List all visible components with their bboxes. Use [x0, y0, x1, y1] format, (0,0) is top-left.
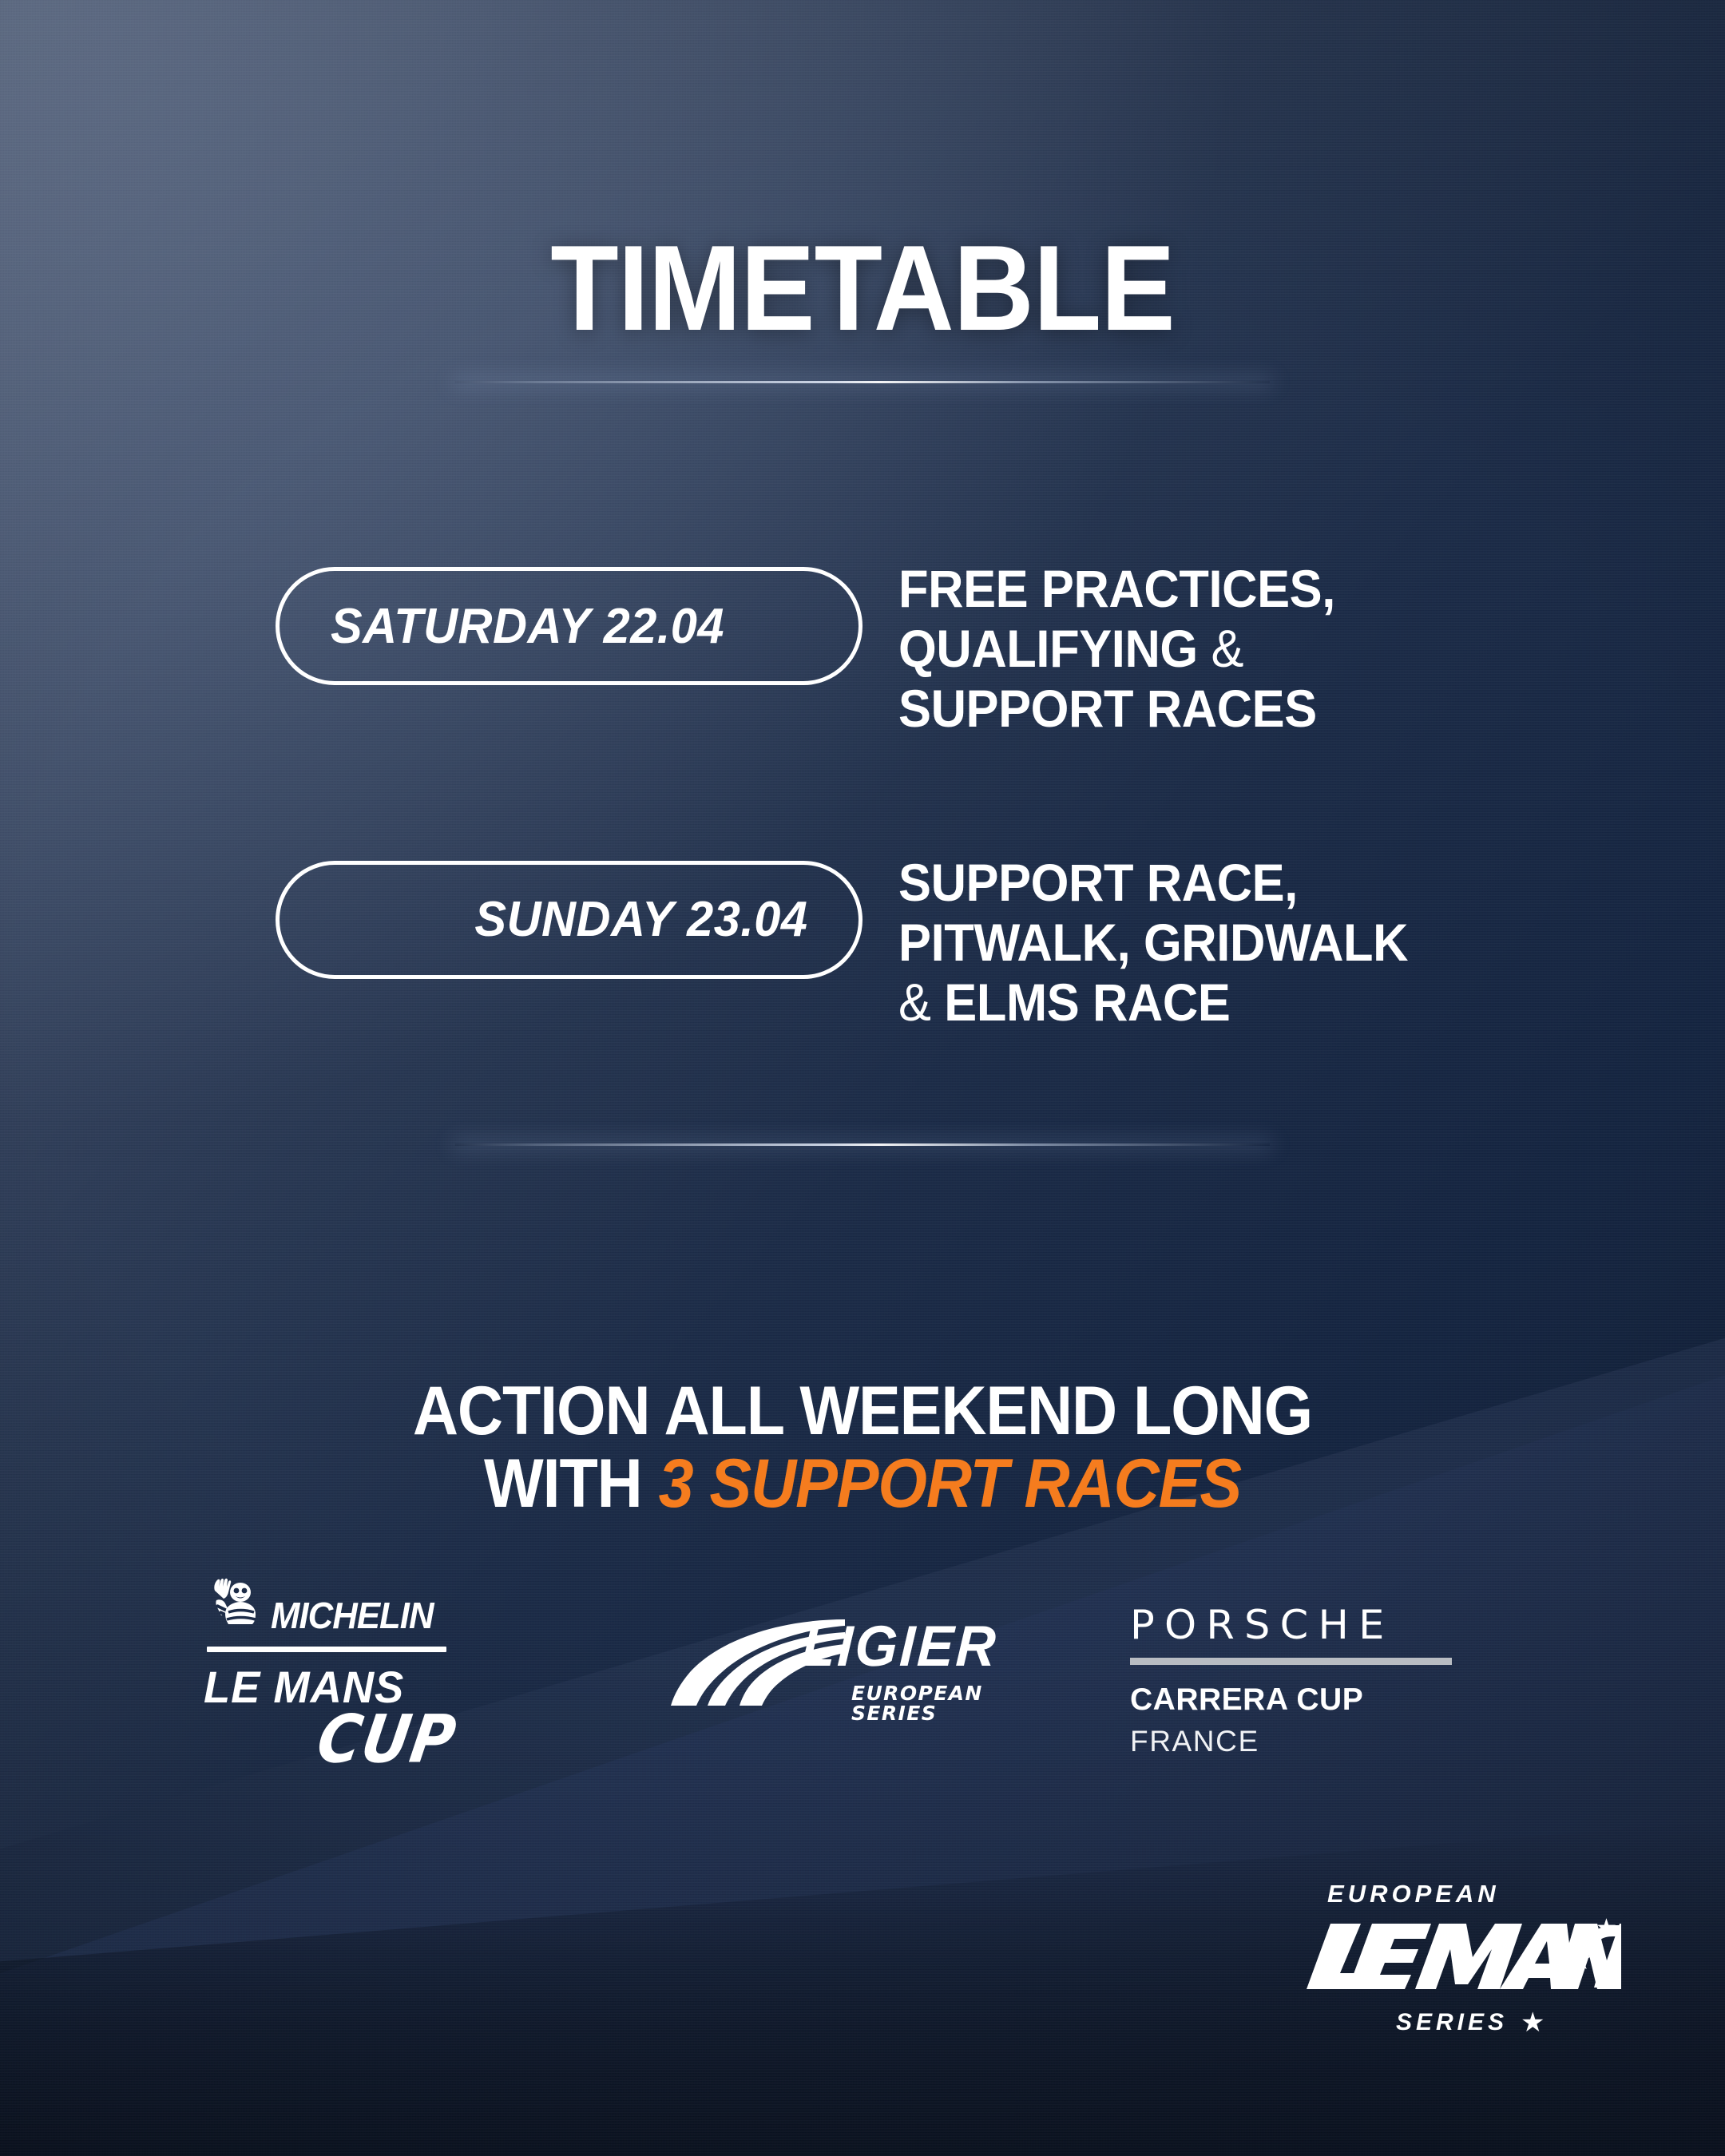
- events-line-1: SUPPORT RACE,: [898, 853, 1408, 913]
- porsche-country-label: FRANCE: [1130, 1725, 1465, 1759]
- date-pill-label: SUNDAY 23.04: [474, 891, 807, 948]
- tagline-prefix: WITH: [484, 1445, 659, 1522]
- svg-text:★: ★: [1596, 1914, 1617, 1942]
- events-line-3-text: ELMS RACE: [931, 973, 1231, 1032]
- ampersand: &: [898, 973, 931, 1032]
- events-description-sunday: SUPPORT RACE, PITWALK, GRIDWALK & ELMS R…: [898, 853, 1408, 1033]
- svg-text:★: ★: [1567, 1944, 1592, 1976]
- events-line-2: PITWALK, GRIDWALK: [898, 913, 1408, 973]
- sponsor-porsche-carrera-cup-france: PORSCHE CARRERA CUP FRANCE: [1130, 1605, 1465, 1758]
- events-line-3: SUPPORT RACES: [898, 679, 1335, 739]
- date-pill-label: SATURDAY 22.04: [331, 598, 724, 655]
- page-title: TIMETABLE: [69, 228, 1656, 349]
- schedule-row-sunday: SUNDAY 23.04 SUPPORT RACE, PITWALK, GRID…: [276, 853, 1489, 1033]
- european-le-mans-series-logo: EUROPEAN: [1278, 1881, 1621, 2036]
- elms-series-row: SERIES ★: [1396, 2009, 1621, 2036]
- elms-series-label: SERIES: [1396, 2011, 1508, 2035]
- porsche-wordmark: PORSCHE: [1130, 1605, 1472, 1645]
- date-pill-sunday[interactable]: SUNDAY 23.04: [276, 861, 862, 979]
- timetable-poster: TIMETABLE SATURDAY 22.04 FREE PRACTICES,…: [0, 0, 1725, 2156]
- events-line-2-text: QUALIFYING: [898, 619, 1211, 678]
- poster-content: TIMETABLE SATURDAY 22.04 FREE PRACTICES,…: [0, 0, 1725, 2156]
- ligier-wordmark: LIGIER: [800, 1618, 999, 1675]
- events-line-3: & ELMS RACE: [898, 973, 1408, 1032]
- date-pill-saturday[interactable]: SATURDAY 22.04: [276, 567, 862, 685]
- tagline-line-2: WITH 3 SUPPORT RACES: [69, 1448, 1656, 1520]
- ligier-subtitle: EUROPEAN SERIES: [851, 1683, 1038, 1723]
- divider-top: [455, 381, 1270, 383]
- porsche-carrera-cup-label: CARRERA CUP: [1130, 1682, 1465, 1718]
- elms-stars-icon: ★ ★: [1549, 1902, 1621, 1990]
- schedule-row-saturday: SATURDAY 22.04 FREE PRACTICES, QUALIFYIN…: [276, 559, 1489, 739]
- tagline-line-1: ACTION ALL WEEKEND LONG: [69, 1375, 1656, 1448]
- schedule-list: SATURDAY 22.04 FREE PRACTICES, QUALIFYIN…: [276, 559, 1489, 1032]
- sponsor-michelin-le-mans-cup: MICHELIN LE MANS CUP: [204, 1573, 515, 1766]
- porsche-divider: [1130, 1658, 1452, 1665]
- events-line-1: FREE PRACTICES,: [898, 559, 1335, 619]
- events-line-2: QUALIFYING &: [898, 619, 1335, 679]
- divider-middle: [455, 1143, 1270, 1146]
- le-mans-cup-line-2: CUP: [313, 1706, 515, 1773]
- tagline-highlight: 3 SUPPORT RACES: [659, 1445, 1241, 1522]
- michelin-wordmark: MICHELIN: [271, 1597, 434, 1642]
- tagline: ACTION ALL WEEKEND LONG WITH 3 SUPPORT R…: [69, 1375, 1656, 1520]
- michelin-man-icon: [204, 1573, 263, 1642]
- ampersand: &: [1211, 619, 1243, 678]
- events-description-saturday: FREE PRACTICES, QUALIFYING & SUPPORT RAC…: [898, 559, 1335, 739]
- star-icon: ★: [1521, 2009, 1545, 2036]
- michelin-underline: [207, 1647, 446, 1652]
- sponsor-logos: MICHELIN LE MANS CUP LIGIER EUROPEAN SER…: [160, 1573, 1453, 1773]
- michelin-lockup: MICHELIN: [204, 1573, 515, 1642]
- sponsor-ligier-european-series: LIGIER EUROPEAN SERIES: [663, 1611, 1038, 1723]
